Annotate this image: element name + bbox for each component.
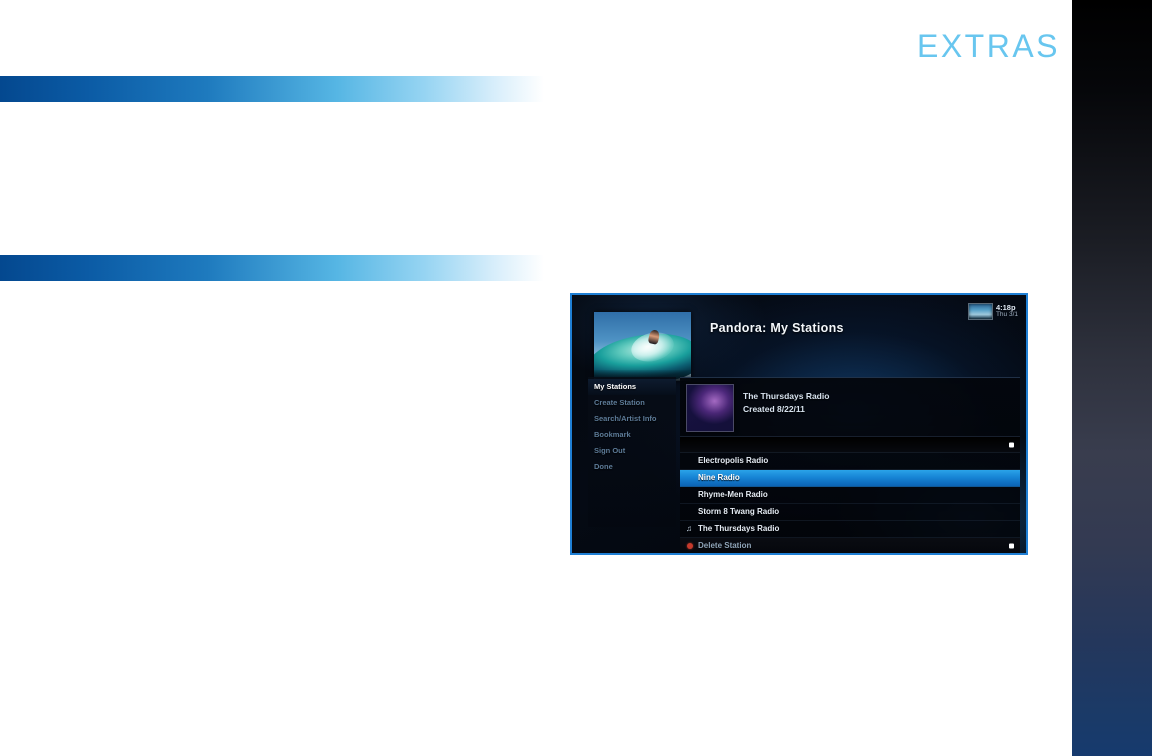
mini-preview-icon[interactable]: [968, 303, 993, 320]
now-playing-created-date: Created 8/22/11: [743, 403, 829, 416]
now-playing-panel: The Thursdays Radio Created 8/22/11: [680, 378, 1020, 436]
now-playing-station-name: The Thursdays Radio: [743, 390, 829, 403]
tv-left-menu: My Stations Create Station Search/Artist…: [588, 377, 676, 527]
menu-item-search-artist-info[interactable]: Search/Artist Info: [588, 411, 676, 427]
station-row-storm-twang[interactable]: Storm 8 Twang Radio: [680, 504, 1020, 521]
album-art: [686, 384, 734, 432]
station-label: Rhyme-Men Radio: [698, 490, 768, 499]
page-canvas: EXTRAS Pandora: My Stations 4:18p Thu 3/…: [0, 0, 1152, 756]
video-preview-thumbnail[interactable]: [594, 312, 691, 381]
right-gradient-rail: [1072, 0, 1152, 756]
tivo-clock-widget: 4:18p Thu 3/1: [968, 303, 1018, 320]
station-label: Nine Radio: [698, 473, 740, 482]
station-label: Electropolis Radio: [698, 456, 768, 465]
menu-item-sign-out[interactable]: Sign Out: [588, 443, 676, 459]
station-list: Electropolis Radio Nine Radio Rhyme-Men …: [680, 453, 1020, 555]
station-row-rhyme-men[interactable]: Rhyme-Men Radio: [680, 487, 1020, 504]
scroll-up-marker-icon[interactable]: [1009, 442, 1014, 447]
station-row-electropolis[interactable]: Electropolis Radio: [680, 453, 1020, 470]
scroll-down-marker-icon[interactable]: [1009, 544, 1014, 549]
delete-icon: [687, 543, 693, 549]
delete-label: Delete Station: [698, 541, 751, 550]
tv-screen-title: Pandora: My Stations: [710, 321, 844, 335]
tv-content-panel: The Thursdays Radio Created 8/22/11 Elec…: [680, 377, 1020, 549]
decorative-rule-bar-bottom: [0, 255, 544, 281]
delete-station-row[interactable]: Delete Station: [680, 538, 1020, 555]
menu-item-my-stations[interactable]: My Stations: [588, 379, 676, 395]
station-row-thursdays[interactable]: ♫ The Thursdays Radio: [680, 521, 1020, 538]
decorative-rule-bar-top: [0, 76, 544, 102]
clock-text-group: 4:18p Thu 3/1: [996, 304, 1018, 319]
station-row-nine[interactable]: Nine Radio: [680, 470, 1020, 487]
menu-item-done[interactable]: Done: [588, 459, 676, 475]
menu-item-bookmark[interactable]: Bookmark: [588, 427, 676, 443]
station-label: The Thursdays Radio: [698, 524, 779, 533]
now-playing-text: The Thursdays Radio Created 8/22/11: [743, 384, 829, 416]
station-label: Storm 8 Twang Radio: [698, 507, 779, 516]
list-scroll-divider[interactable]: [680, 436, 1020, 453]
music-note-icon: ♫: [686, 521, 692, 537]
clock-date: Thu 3/1: [996, 312, 1018, 319]
section-eyebrow: EXTRAS: [917, 28, 1060, 65]
tv-screenshot-frame: Pandora: My Stations 4:18p Thu 3/1 My St…: [570, 293, 1028, 555]
menu-item-create-station[interactable]: Create Station: [588, 395, 676, 411]
